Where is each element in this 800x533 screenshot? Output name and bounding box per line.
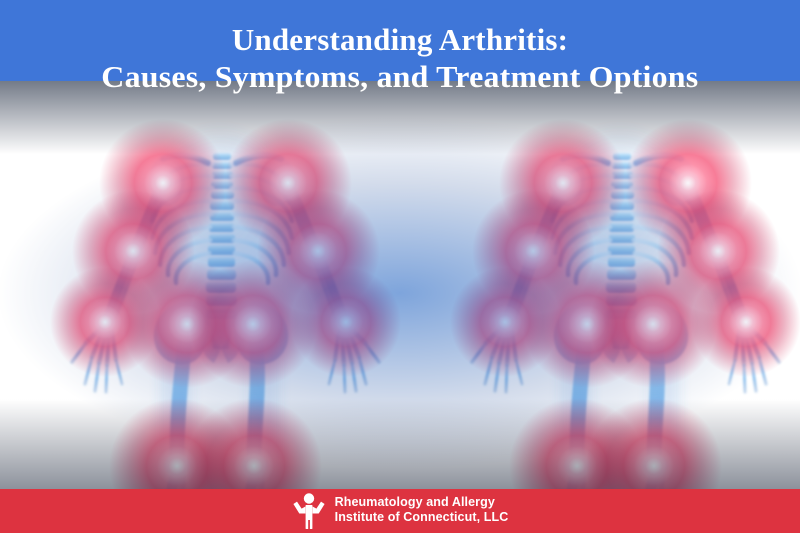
raised-arms-figure-logo-icon	[292, 491, 326, 529]
skeleton-bones-right-icon	[400, 81, 800, 489]
skeleton-figure-right	[400, 81, 800, 489]
title-line-2: Causes, Symptoms, and Treatment Options	[101, 55, 698, 92]
arthritis-poster: Understanding Arthritis: Causes, Symptom…	[0, 0, 800, 533]
brand-line-2: Institute of Connecticut, LLC	[335, 510, 509, 525]
brand-line-1: Rheumatology and Allergy	[335, 495, 509, 510]
brand-name: Rheumatology and Allergy Institute of Co…	[335, 495, 509, 525]
header-banner: Understanding Arthritis: Causes, Symptom…	[0, 0, 800, 81]
title-line-1: Understanding Arthritis:	[110, 21, 690, 55]
skeleton-illustration	[0, 81, 800, 489]
page-title: Understanding Arthritis: Causes, Symptom…	[110, 21, 690, 92]
skeleton-figure-left	[0, 81, 400, 489]
brand-lockup[interactable]: Rheumatology and Allergy Institute of Co…	[292, 491, 509, 529]
skeleton-bones-left-icon	[0, 81, 400, 489]
footer-bar: Rheumatology and Allergy Institute of Co…	[0, 489, 800, 533]
